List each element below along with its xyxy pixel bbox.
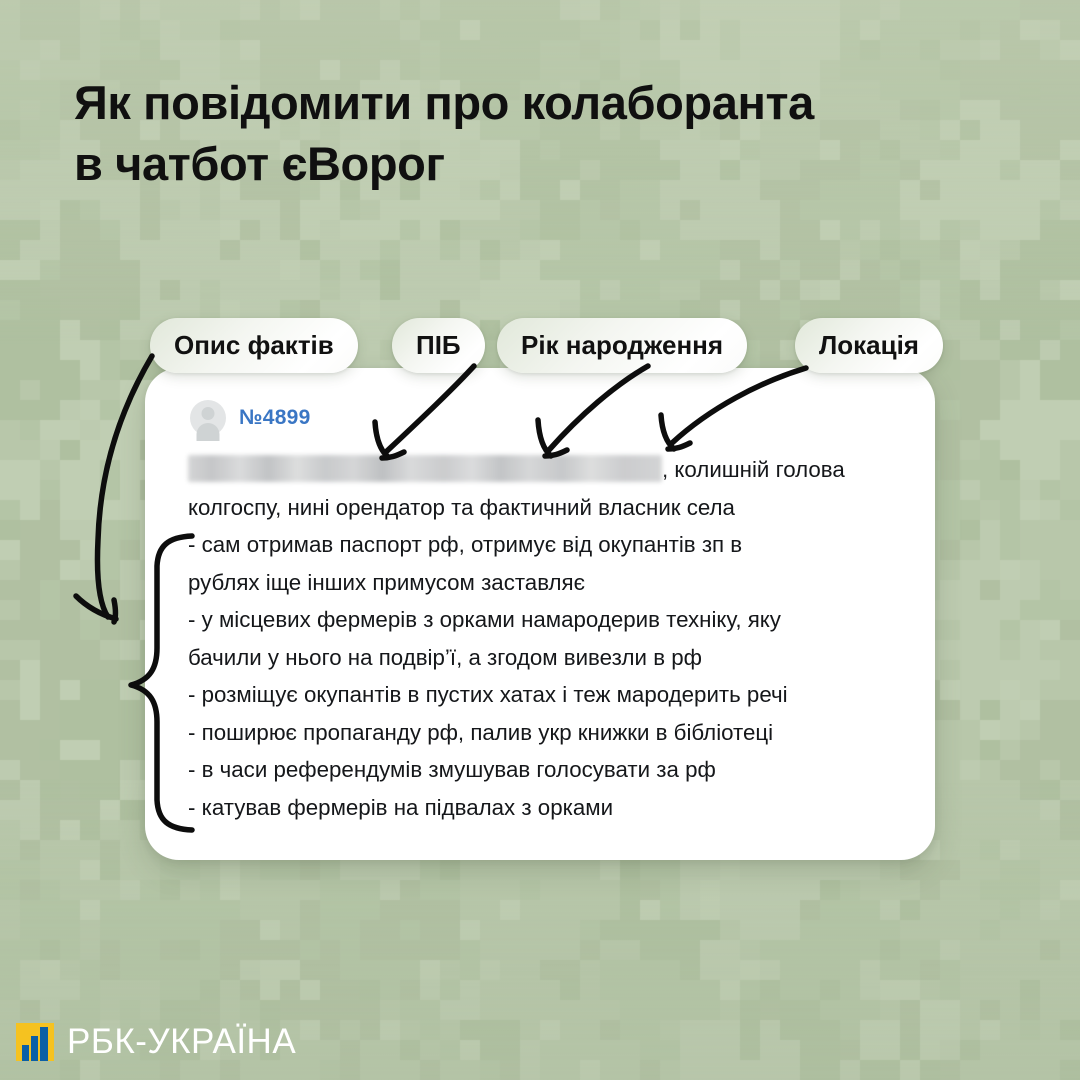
annotation-pill-pib: ПІБ (392, 318, 485, 373)
report-line-0-tail: , колишній голова (662, 457, 845, 482)
footer-logo-text: РБК-УКРАЇНА (67, 1022, 296, 1062)
report-line-7: - поширює пропаганду рф, палив укр книжк… (188, 714, 896, 752)
card-header: №4899 (190, 400, 311, 436)
rbk-bar-chart-logo-icon (16, 1023, 54, 1061)
report-line-2: - сам отримав паспорт рф, отримує від ок… (188, 526, 896, 564)
report-line-1: колгоспу, нині орендатор та фактичний вл… (188, 489, 896, 527)
annotation-pill-lokaciya: Локація (795, 318, 943, 373)
report-body-text: , колишній голова колгоспу, нині орендат… (188, 451, 896, 826)
footer-logo: РБК-УКРАЇНА (16, 1022, 296, 1062)
report-line-4: - у місцевих фермерів з орками намародер… (188, 601, 896, 639)
user-avatar-icon (190, 400, 226, 436)
annotation-pill-rik-narodzhennya: Рік народження (497, 318, 747, 373)
report-line-5: бачили у нього на подвір’ї, а згодом вив… (188, 639, 896, 677)
report-line-9: - катував фермерів на підвалах з орками (188, 789, 896, 827)
report-id-label: №4899 (239, 406, 311, 430)
report-line-6: - розміщує окупантів в пустих хатах і те… (188, 676, 896, 714)
redacted-personal-data-bar (188, 455, 662, 482)
report-line-redacted: , колишній голова (188, 451, 896, 489)
report-message-card: №4899 , колишній голова колгоспу, нині о… (145, 368, 935, 860)
page-title: Як повідомити про колаборанта в чатбот є… (74, 72, 974, 194)
report-line-8: - в часи референдумів змушував голосуват… (188, 751, 896, 789)
annotation-pill-opys-faktiv: Опис фактів (150, 318, 358, 373)
report-line-3: рублях іще інших примусом заставляє (188, 564, 896, 602)
